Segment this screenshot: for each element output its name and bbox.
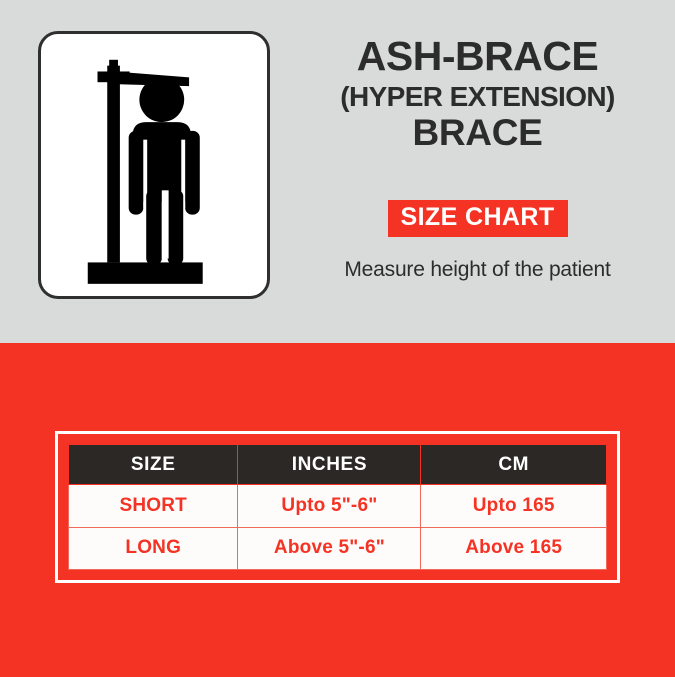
cell-size: SHORT	[69, 485, 238, 528]
title-block: ASH-BRACE (HYPER EXTENSION) BRACE	[285, 36, 670, 153]
cell-inches: Above 5"-6"	[238, 527, 421, 570]
header-section: ASH-BRACE (HYPER EXTENSION) BRACE SIZE C…	[0, 0, 675, 343]
table-row: LONG Above 5"-6" Above 165	[69, 527, 607, 570]
size-table-frame: SIZE INCHES CM SHORT Upto 5"-6" Upto 165…	[55, 431, 620, 583]
size-chart-badge: SIZE CHART	[388, 200, 568, 237]
cell-cm: Upto 165	[421, 485, 607, 528]
measurement-instruction: Measure height of the patient	[285, 258, 670, 282]
product-illustration-card	[38, 31, 270, 299]
product-title-subtype: (HYPER EXTENSION)	[285, 80, 670, 113]
cell-cm: Above 165	[421, 527, 607, 570]
size-table-head: SIZE INCHES CM	[69, 445, 607, 485]
table-row: SHORT Upto 5"-6" Upto 165	[69, 485, 607, 528]
product-title-primary: ASH-BRACE	[285, 36, 670, 78]
cell-inches: Upto 5"-6"	[238, 485, 421, 528]
product-title-secondary: BRACE	[285, 114, 670, 153]
stadiometer-height-measure-icon	[41, 34, 267, 296]
badge-container: SIZE CHART	[285, 200, 670, 237]
column-header-size: SIZE	[69, 445, 238, 485]
column-header-inches: INCHES	[238, 445, 421, 485]
cell-size: LONG	[69, 527, 238, 570]
size-table-body: SHORT Upto 5"-6" Upto 165 LONG Above 5"-…	[69, 485, 607, 570]
size-table: SIZE INCHES CM SHORT Upto 5"-6" Upto 165…	[68, 444, 607, 570]
size-chart-poster: ASH-BRACE (HYPER EXTENSION) BRACE SIZE C…	[0, 0, 675, 677]
table-header-row: SIZE INCHES CM	[69, 445, 607, 485]
size-table-section: SIZE INCHES CM SHORT Upto 5"-6" Upto 165…	[0, 343, 675, 677]
column-header-cm: CM	[421, 445, 607, 485]
